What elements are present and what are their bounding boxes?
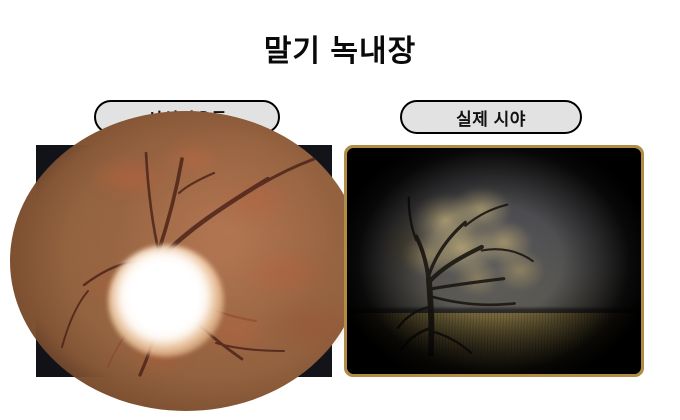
fundus-photograph [36, 145, 332, 377]
fundus-vignette [36, 145, 332, 377]
panel-optic-disc: 시신경유두 [36, 100, 332, 134]
label-pill-visual-field-text: 실제 시야 [456, 105, 526, 130]
page-title: 말기 녹내장 [0, 32, 680, 72]
panel-visual-field: 실제 시야 [344, 100, 644, 134]
vision-scene [347, 148, 641, 374]
label-pill-visual-field: 실제 시야 [400, 100, 582, 134]
vision-simulation-photograph [344, 145, 644, 377]
tunnel-vision-vignette [347, 148, 641, 374]
